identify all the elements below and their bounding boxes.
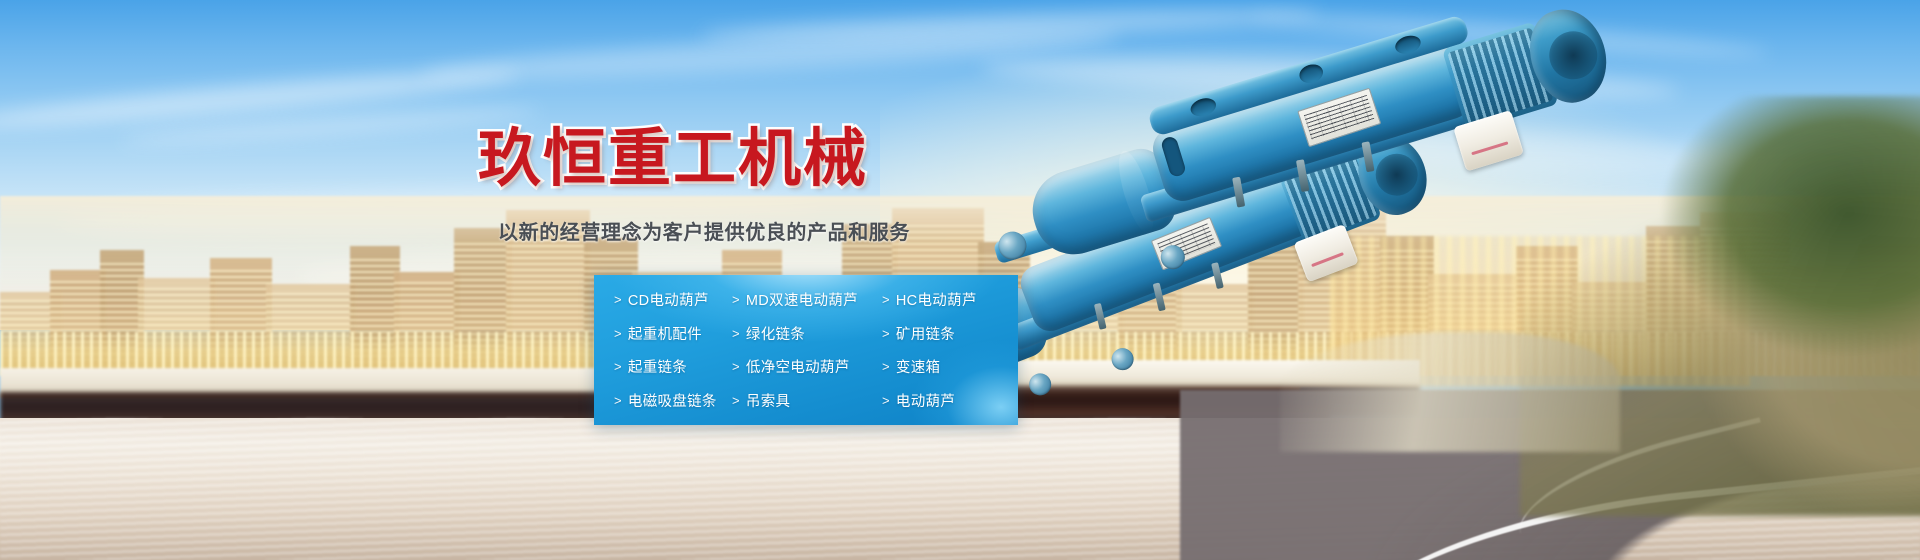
product-links-grid: > CD电动葫芦 > MD双速电动葫芦 > HC电动葫芦 > 起重机配件 > 绿… — [594, 275, 1018, 425]
product-link-label: HC电动葫芦 — [896, 289, 977, 310]
chevron-right-icon: > — [614, 326, 622, 341]
product-link-label: 低净空电动葫芦 — [746, 356, 850, 377]
product-link-electric-hoist[interactable]: > 电动葫芦 — [882, 384, 1018, 418]
product-link-low-headroom-hoist[interactable]: > 低净空电动葫芦 — [732, 350, 882, 384]
product-link-gearbox[interactable]: > 变速箱 — [882, 350, 1018, 384]
chevron-right-icon: > — [882, 393, 890, 408]
chevron-right-icon: > — [732, 326, 740, 341]
chevron-right-icon: > — [614, 292, 622, 307]
chevron-right-icon: > — [614, 359, 622, 374]
chevron-right-icon: > — [732, 393, 740, 408]
product-link-label: CD电动葫芦 — [628, 289, 709, 310]
product-link-label: MD双速电动葫芦 — [746, 289, 858, 310]
product-link-label: 矿用链条 — [896, 323, 955, 344]
product-link-label: 绿化链条 — [746, 323, 805, 344]
product-link-magnetic-chuck-chain[interactable]: > 电磁吸盘链条 — [614, 384, 732, 418]
product-link-lifting-chain[interactable]: > 起重链条 — [614, 350, 732, 384]
product-link-label: 起重链条 — [628, 356, 687, 377]
product-link-mining-chain[interactable]: > 矿用链条 — [882, 317, 1018, 351]
product-link-label: 电动葫芦 — [896, 390, 955, 411]
chevron-right-icon: > — [882, 326, 890, 341]
product-link-hc-electric-hoist[interactable]: > HC电动葫芦 — [882, 283, 1018, 317]
product-links-panel: > CD电动葫芦 > MD双速电动葫芦 > HC电动葫芦 > 起重机配件 > 绿… — [594, 275, 1018, 425]
product-link-crane-parts[interactable]: > 起重机配件 — [614, 317, 732, 351]
product-link-label: 起重机配件 — [628, 323, 702, 344]
chevron-right-icon: > — [732, 359, 740, 374]
hero-banner: 玖恒重工机械 以新的经营理念为客户提供优良的产品和服务 > CD电动葫芦 > M… — [0, 0, 1920, 560]
page-subtitle: 以新的经营理念为客户提供优良的产品和服务 — [498, 216, 910, 245]
product-link-green-chain[interactable]: > 绿化链条 — [732, 317, 882, 351]
page-title: 玖恒重工机械 — [478, 108, 868, 199]
product-link-label: 变速箱 — [896, 356, 940, 377]
product-link-cd-electric-hoist[interactable]: > CD电动葫芦 — [614, 283, 732, 317]
product-link-label: 电磁吸盘链条 — [628, 390, 717, 411]
product-link-md-dual-speed-hoist[interactable]: > MD双速电动葫芦 — [732, 283, 882, 317]
chevron-right-icon: > — [882, 359, 890, 374]
chevron-right-icon: > — [732, 292, 740, 307]
chevron-right-icon: > — [614, 393, 622, 408]
chevron-right-icon: > — [882, 292, 890, 307]
product-link-slings[interactable]: > 吊索具 — [732, 384, 882, 418]
product-link-label: 吊索具 — [746, 390, 790, 411]
